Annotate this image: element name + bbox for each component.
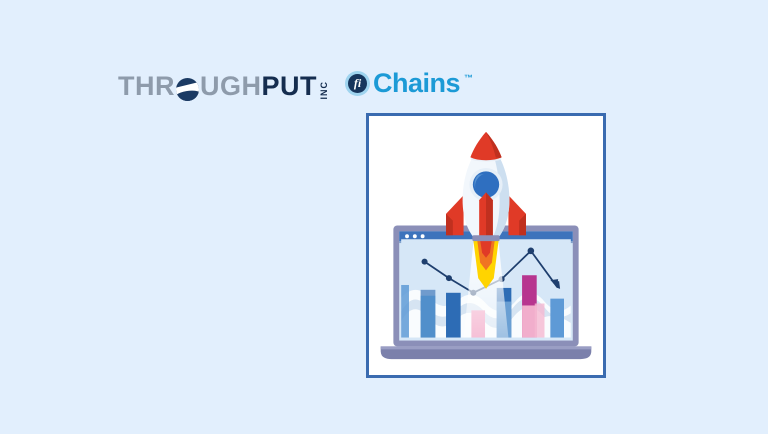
globe-swoosh-icon [176, 78, 199, 101]
browser-dot-2 [413, 234, 417, 238]
trend-point-2 [446, 275, 452, 281]
throughput-logo: THR UGH PUT INC [118, 66, 329, 100]
logo-lockup: THR UGH PUT INC fi Chains ™ [118, 66, 473, 100]
rocket-launch-analytics-illustration [369, 116, 603, 375]
illustration-card [366, 113, 606, 378]
browser-dot-1 [405, 234, 409, 238]
throughput-word-part1: THR [118, 72, 175, 100]
trend-point-5 [528, 248, 535, 255]
throughput-word-part3: PUT [262, 72, 318, 100]
bar-7 [535, 304, 545, 338]
chains-logo: fi Chains ™ [345, 69, 473, 97]
laptop [381, 226, 592, 360]
fi-glyph: fi [348, 74, 367, 93]
bar-6-lower-shade [522, 305, 537, 337]
bar-3 [446, 293, 461, 338]
trademark-symbol: ™ [464, 73, 473, 83]
throughput-word-part2: UGH [200, 72, 262, 100]
rocket-center-fin-shade [486, 192, 493, 237]
bar-8 [550, 299, 564, 338]
screen-content [397, 239, 573, 340]
laptop-base-highlight [381, 346, 592, 349]
chains-wordmark: Chains [373, 69, 460, 97]
browser-dot-3 [421, 234, 425, 238]
trend-point-1 [422, 259, 428, 265]
rocket [446, 132, 526, 241]
throughput-inc-suffix: INC [320, 81, 329, 100]
rocket-nozzle [472, 235, 499, 241]
bar-2-core [421, 296, 436, 338]
fi-circle-icon: fi [345, 71, 370, 96]
